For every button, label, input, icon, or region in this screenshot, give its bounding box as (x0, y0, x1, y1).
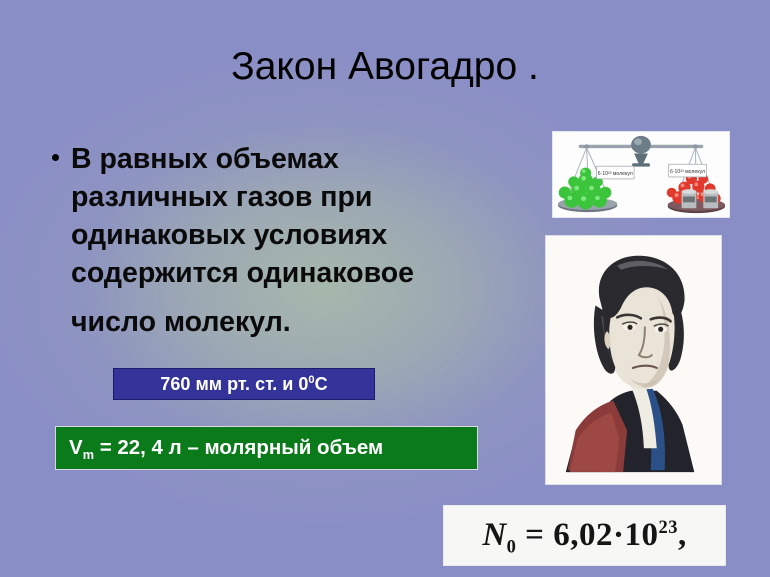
body-paragraph: В равных объемах различных газов при оди… (71, 140, 514, 341)
temperature-value: 0 (298, 374, 308, 394)
pressure-unit: мм рт. ст. и (195, 374, 293, 394)
page-title: Закон Авогадро . (0, 44, 770, 90)
balance-scale-image: 6·10²³ молекул 6·10²³ молекул (552, 131, 730, 218)
formula-mantissa: 6,02 (553, 517, 613, 553)
molar-volume-subscript: m (83, 447, 94, 462)
body-line-4: содержится одинаковое (71, 257, 414, 289)
formula-subscript: 0 (507, 537, 517, 557)
formula-base: 10 (624, 517, 658, 553)
pressure-value: 760 (160, 374, 190, 394)
molar-volume-equation: = 22, 4 л – молярный объем (100, 436, 384, 459)
formula-operator: · (613, 517, 625, 553)
formula-exponent: 23 (658, 517, 677, 537)
body-line-2: различных газов при (71, 181, 372, 213)
bullet-list-item: В равных объемах различных газов при оди… (44, 140, 514, 341)
svg-text:6·10²³ молекул: 6·10²³ молекул (670, 169, 705, 175)
portrait-icon (546, 236, 721, 484)
body-line-5: число молекул. (71, 303, 514, 341)
formula-symbol: N (482, 517, 506, 553)
avogadro-portrait-image (545, 235, 722, 485)
standard-conditions-text: 760 мм рт. ст. и 00C (160, 375, 327, 393)
temperature-unit: C (315, 374, 328, 394)
avogadro-number-formula: N0 = 6,02·1023, (443, 505, 726, 566)
molar-volume-symbol: V (69, 436, 83, 459)
formula-trailing-comma: , (678, 517, 687, 553)
formula-equals: = (525, 517, 544, 553)
body-line-1: В равных объемах (71, 143, 339, 175)
bullet-dot-icon (52, 154, 59, 161)
molar-volume-box: Vm = 22, 4 л – молярный объем (55, 426, 478, 470)
svg-text:6·10²³ молекул: 6·10²³ молекул (598, 171, 633, 177)
balance-scale-icon: 6·10²³ молекул 6·10²³ молекул (553, 132, 729, 217)
molar-volume-text: Vm = 22, 4 л – молярный объем (69, 438, 383, 459)
presentation-slide: Закон Авогадро . В равных объемах различ… (0, 0, 770, 577)
formula-text: N0 = 6,02·1023, (482, 519, 686, 552)
body-line-3: одинаковых условиях (71, 219, 387, 251)
body-content: В равных объемах различных газов при оди… (44, 140, 514, 341)
standard-conditions-box: 760 мм рт. ст. и 00C (113, 368, 375, 400)
